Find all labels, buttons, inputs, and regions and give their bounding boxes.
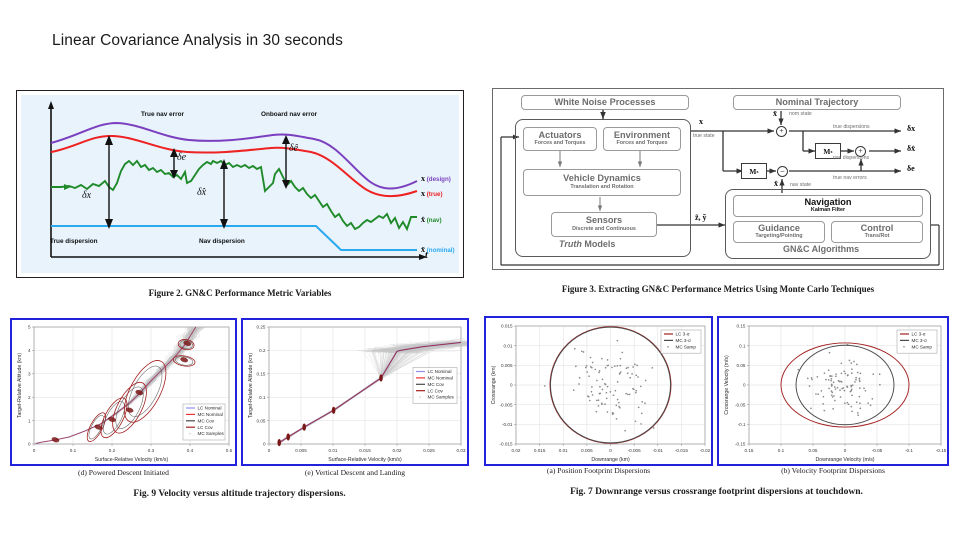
- box-environment-sub: Forces and Torques: [616, 141, 667, 147]
- box-navigation: Navigation Kalman Filter: [733, 195, 923, 217]
- box-actuators: Actuators Forces and Torques: [523, 127, 597, 151]
- box-guidance-sub: Targeting/Pointing: [755, 234, 802, 240]
- signal-x-true-note: true state: [693, 133, 715, 139]
- svg-text:Crossrange Velocity (m/s): Crossrange Velocity (m/s): [724, 355, 730, 415]
- block-mx-upper-sub: x: [830, 149, 832, 154]
- chart-panel-position-footprint: 0.020.0150.010.0050-0.005-0.01-0.015-0.0…: [484, 316, 713, 466]
- box-actuators-sub: Forces and Torques: [534, 141, 585, 147]
- label-nav-dispersion: Nav dispersion: [199, 238, 245, 245]
- legend-design-label: (design): [427, 176, 451, 183]
- label-true-nav-error: True nav error: [141, 111, 184, 118]
- label-true-dispersions: true dispersions: [833, 124, 870, 130]
- box-white-noise-title: White Noise Processes: [554, 98, 655, 108]
- svg-text:0.01: 0.01: [559, 448, 568, 453]
- output-delta-x: δx: [907, 124, 915, 133]
- svg-text:0.1: 0.1: [739, 343, 746, 348]
- box-sensors: Sensors Discrete and Continuous: [551, 212, 657, 237]
- svg-text:-0.01: -0.01: [502, 422, 513, 427]
- svg-text:0.4: 0.4: [187, 448, 194, 453]
- svg-text:Surface-Relative Velocity (km/: Surface-Relative Velocity (km/s): [328, 457, 402, 463]
- subcaption-b: (b) Velocity Footprint Dispersions: [717, 466, 949, 475]
- svg-text:0.025: 0.025: [423, 448, 435, 453]
- box-actuators-title: Actuators: [539, 131, 582, 141]
- svg-text:0.01: 0.01: [329, 448, 338, 453]
- svg-text:0.2: 0.2: [109, 448, 116, 453]
- svg-text:LC 3-σ: LC 3-σ: [912, 332, 926, 337]
- svg-text:0: 0: [844, 448, 847, 453]
- figure-3-caption: Figure 3. Extracting GN&C Performance Me…: [492, 284, 944, 294]
- subcaption-a: (a) Position Footprint Dispersions: [484, 466, 713, 475]
- label-onboard-nav-error: Onboard nav error: [261, 111, 317, 118]
- box-nominal-trajectory-title: Nominal Trajectory: [776, 98, 859, 108]
- svg-text:0.02: 0.02: [512, 448, 521, 453]
- svg-text:Downrange (km): Downrange (km): [591, 457, 630, 463]
- signal-x-nominal-note: nom state: [789, 111, 812, 117]
- box-guidance: Guidance Targeting/Pointing: [733, 221, 825, 243]
- block-mx-lower: Mx: [741, 163, 767, 179]
- label-truth-italic: Truth: [559, 239, 582, 249]
- figure-2-caption: Figure 2. GN&C Performance Metric Variab…: [16, 288, 464, 298]
- svg-text:Downrange Velocity (m/s): Downrange Velocity (m/s): [815, 457, 874, 463]
- chart-a-svg: 0.020.0150.010.0050-0.005-0.01-0.015-0.0…: [486, 318, 711, 464]
- figure-2-panel: True nav error Onboard nav error True di…: [16, 90, 464, 278]
- box-environment-title: Environment: [614, 131, 670, 141]
- box-vehicle-dynamics-sub: Translation and Rotation: [570, 185, 633, 191]
- chart-panel-vertical-descent: 00.0050.010.0150.020.0250.0300.050.10.15…: [241, 318, 469, 466]
- svg-text:1: 1: [28, 418, 31, 423]
- box-navigation-sub: Kalman Filter: [811, 208, 845, 214]
- svg-text:Surface-Relative Velocity (km/: Surface-Relative Velocity (km/s): [95, 457, 169, 463]
- svg-text:0.05: 0.05: [257, 418, 266, 423]
- box-white-noise-processes: White Noise Processes: [521, 95, 689, 110]
- chart-b-svg: 0.150.10.050-0.05-0.1-0.15-0.15-0.1-0.05…: [719, 318, 947, 464]
- chart-e-svg: 00.0050.010.0150.020.0250.0300.050.10.15…: [243, 320, 467, 464]
- symbol-delta-e-hat: δê: [289, 143, 298, 154]
- label-gnc-algorithms: GN&C Algorithms: [783, 244, 859, 254]
- svg-text:0.25: 0.25: [257, 325, 266, 330]
- signal-x-nominal: x̄: [773, 109, 777, 118]
- svg-text:0.015: 0.015: [501, 324, 513, 329]
- legend-nominal-var: x̄: [421, 245, 425, 254]
- svg-text:0.1: 0.1: [259, 395, 266, 400]
- svg-text:MC Nominal: MC Nominal: [428, 376, 453, 381]
- figure-9-caption: Fig. 9 Velocity versus altitude trajecto…: [10, 489, 469, 499]
- chart-panel-powered-descent: 00.10.20.30.40.5012345Surface-Relative V…: [10, 318, 237, 466]
- svg-text:0.015: 0.015: [359, 448, 371, 453]
- signal-z-y-measurements: z̃, ỹ: [695, 213, 707, 222]
- label-models-rest: Models: [582, 239, 616, 249]
- legend-design-var: x: [421, 174, 425, 183]
- svg-text:0.15: 0.15: [257, 372, 266, 377]
- legend-nav: x̂ (nav): [421, 215, 442, 224]
- svg-text:0: 0: [33, 448, 36, 453]
- svg-text:0.05: 0.05: [737, 363, 746, 368]
- output-delta-x-hat: δx̂: [907, 144, 915, 153]
- svg-text:-0.15: -0.15: [936, 448, 947, 453]
- svg-text:LC Cov: LC Cov: [198, 425, 214, 430]
- signal-x-true: x: [699, 117, 703, 126]
- box-vehicle-dynamics: Vehicle Dynamics Translation and Rotatio…: [523, 169, 681, 196]
- box-control-sub: Trans/Rot: [865, 234, 890, 240]
- svg-text:-0.1: -0.1: [738, 422, 746, 427]
- svg-text:0.15: 0.15: [737, 324, 746, 329]
- svg-text:MC Samples: MC Samples: [198, 431, 225, 436]
- svg-text:-0.005: -0.005: [499, 402, 512, 407]
- label-true-nav-errors: true nav errors: [833, 175, 867, 181]
- svg-text:5: 5: [28, 325, 31, 330]
- svg-text:MC Nominal: MC Nominal: [198, 412, 223, 417]
- svg-text:MC 3-σ: MC 3-σ: [676, 338, 692, 343]
- svg-text:MC Samples: MC Samples: [428, 395, 455, 400]
- svg-text:2: 2: [28, 395, 31, 400]
- svg-text:0.15: 0.15: [745, 448, 754, 453]
- svg-text:0: 0: [268, 448, 271, 453]
- svg-text:0.03: 0.03: [457, 448, 466, 453]
- svg-text:4: 4: [28, 348, 31, 353]
- svg-text:MC Cov: MC Cov: [428, 382, 445, 387]
- legend-true: x (true): [421, 189, 443, 198]
- block-mx-lower-sub: x: [756, 169, 758, 174]
- svg-text:0.05: 0.05: [809, 448, 818, 453]
- figure-2-plot-area: True nav error Onboard nav error True di…: [21, 95, 459, 273]
- svg-text:0.01: 0.01: [504, 343, 513, 348]
- legend-nominal-label: (nominal): [427, 247, 455, 254]
- svg-text:0: 0: [28, 442, 31, 447]
- svg-text:0: 0: [609, 448, 612, 453]
- svg-text:-0.15: -0.15: [735, 442, 746, 447]
- svg-text:0.3: 0.3: [148, 448, 155, 453]
- svg-text:-0.1: -0.1: [905, 448, 913, 453]
- figure-2-curves: [21, 95, 461, 275]
- svg-text:0.2: 0.2: [259, 348, 266, 353]
- svg-text:-0.05: -0.05: [735, 402, 746, 407]
- symbol-delta-e: δe: [177, 152, 186, 163]
- svg-text:LC 3-σ: LC 3-σ: [676, 332, 690, 337]
- symbol-delta-x-hat: δx̂: [197, 187, 206, 198]
- output-delta-e: δe: [907, 164, 915, 173]
- svg-text:0: 0: [743, 383, 746, 388]
- svg-text:LC Cov: LC Cov: [428, 388, 444, 393]
- legend-design: x (design): [421, 174, 451, 183]
- legend-nominal: x̄ (nominal): [421, 245, 455, 254]
- svg-text:-0.005: -0.005: [628, 448, 641, 453]
- label-true-dispersion: True dispersion: [50, 238, 98, 245]
- svg-text:Target-Relative Altitude (km): Target-Relative Altitude (km): [17, 353, 23, 418]
- sum-junction-nav-errors: –: [777, 166, 788, 177]
- svg-text:0.1: 0.1: [70, 448, 77, 453]
- svg-text:-0.015: -0.015: [675, 448, 688, 453]
- box-navigation-title: Navigation: [805, 198, 852, 208]
- block-mx-lower-label: M: [749, 167, 756, 176]
- svg-text:0.005: 0.005: [295, 448, 307, 453]
- svg-text:MC 3-σ: MC 3-σ: [912, 338, 928, 343]
- figure-3-panel: White Noise Processes Nominal Trajectory…: [492, 88, 944, 270]
- svg-text:0.005: 0.005: [581, 448, 593, 453]
- chart-panel-velocity-footprint: 0.150.10.050-0.05-0.1-0.15-0.15-0.1-0.05…: [717, 316, 949, 466]
- page-title: Linear Covariance Analysis in 30 seconds: [52, 32, 343, 50]
- svg-text:3: 3: [28, 372, 31, 377]
- box-guidance-title: Guidance: [758, 224, 800, 234]
- legend-true-label: (true): [427, 191, 443, 198]
- svg-text:MC Cov: MC Cov: [198, 418, 215, 423]
- svg-text:0: 0: [510, 383, 513, 388]
- svg-text:LC Nominal: LC Nominal: [198, 406, 222, 411]
- svg-text:-0.015: -0.015: [499, 442, 512, 447]
- svg-text:0.5: 0.5: [226, 448, 233, 453]
- label-nav-dispersions: nav dispersions: [833, 155, 869, 161]
- svg-text:0.02: 0.02: [393, 448, 402, 453]
- box-vehicle-dynamics-title: Vehicle Dynamics: [563, 174, 641, 184]
- sum-junction-nominal: +: [776, 126, 787, 137]
- svg-text:Crossrange (km): Crossrange (km): [491, 365, 497, 404]
- legend-true-var: x: [421, 189, 425, 198]
- figure-7-caption: Fig. 7 Downrange versus crossrange footp…: [484, 487, 949, 497]
- svg-text:-0.05: -0.05: [872, 448, 883, 453]
- box-control-title: Control: [861, 224, 894, 234]
- label-truth-models: Truth Models: [559, 239, 615, 249]
- legend-nav-label: (nav): [427, 217, 442, 224]
- box-sensors-title: Sensors: [586, 216, 622, 226]
- block-mx-upper-label: M: [823, 147, 830, 156]
- symbol-delta-x: δx: [82, 190, 91, 201]
- svg-text:MC Samp: MC Samp: [912, 344, 933, 349]
- svg-text:-0.02: -0.02: [700, 448, 711, 453]
- svg-text:-0.01: -0.01: [653, 448, 664, 453]
- svg-text:LC Nominal: LC Nominal: [428, 369, 452, 374]
- signal-x-nav-note: nav state: [790, 182, 811, 188]
- chart-d-svg: 00.10.20.30.40.5012345Surface-Relative V…: [12, 320, 235, 464]
- box-sensors-sub: Discrete and Continuous: [572, 227, 636, 233]
- svg-text:MC Samp: MC Samp: [676, 344, 697, 349]
- subcaption-d: (d) Powered Descent Initiated: [10, 468, 237, 477]
- svg-text:0.015: 0.015: [534, 448, 546, 453]
- box-control: Control Trans/Rot: [831, 221, 923, 243]
- subcaption-e: (e) Vertical Descent and Landing: [241, 468, 469, 477]
- svg-text:0: 0: [263, 442, 266, 447]
- legend-nav-var: x̂: [421, 215, 425, 224]
- box-nominal-trajectory: Nominal Trajectory: [733, 95, 901, 110]
- svg-text:0.1: 0.1: [778, 448, 785, 453]
- svg-text:0.005: 0.005: [501, 363, 513, 368]
- svg-text:Target-Relative Altitude (km): Target-Relative Altitude (km): [248, 353, 254, 418]
- box-environment: Environment Forces and Torques: [603, 127, 681, 151]
- signal-x-nav: x̂: [774, 179, 778, 188]
